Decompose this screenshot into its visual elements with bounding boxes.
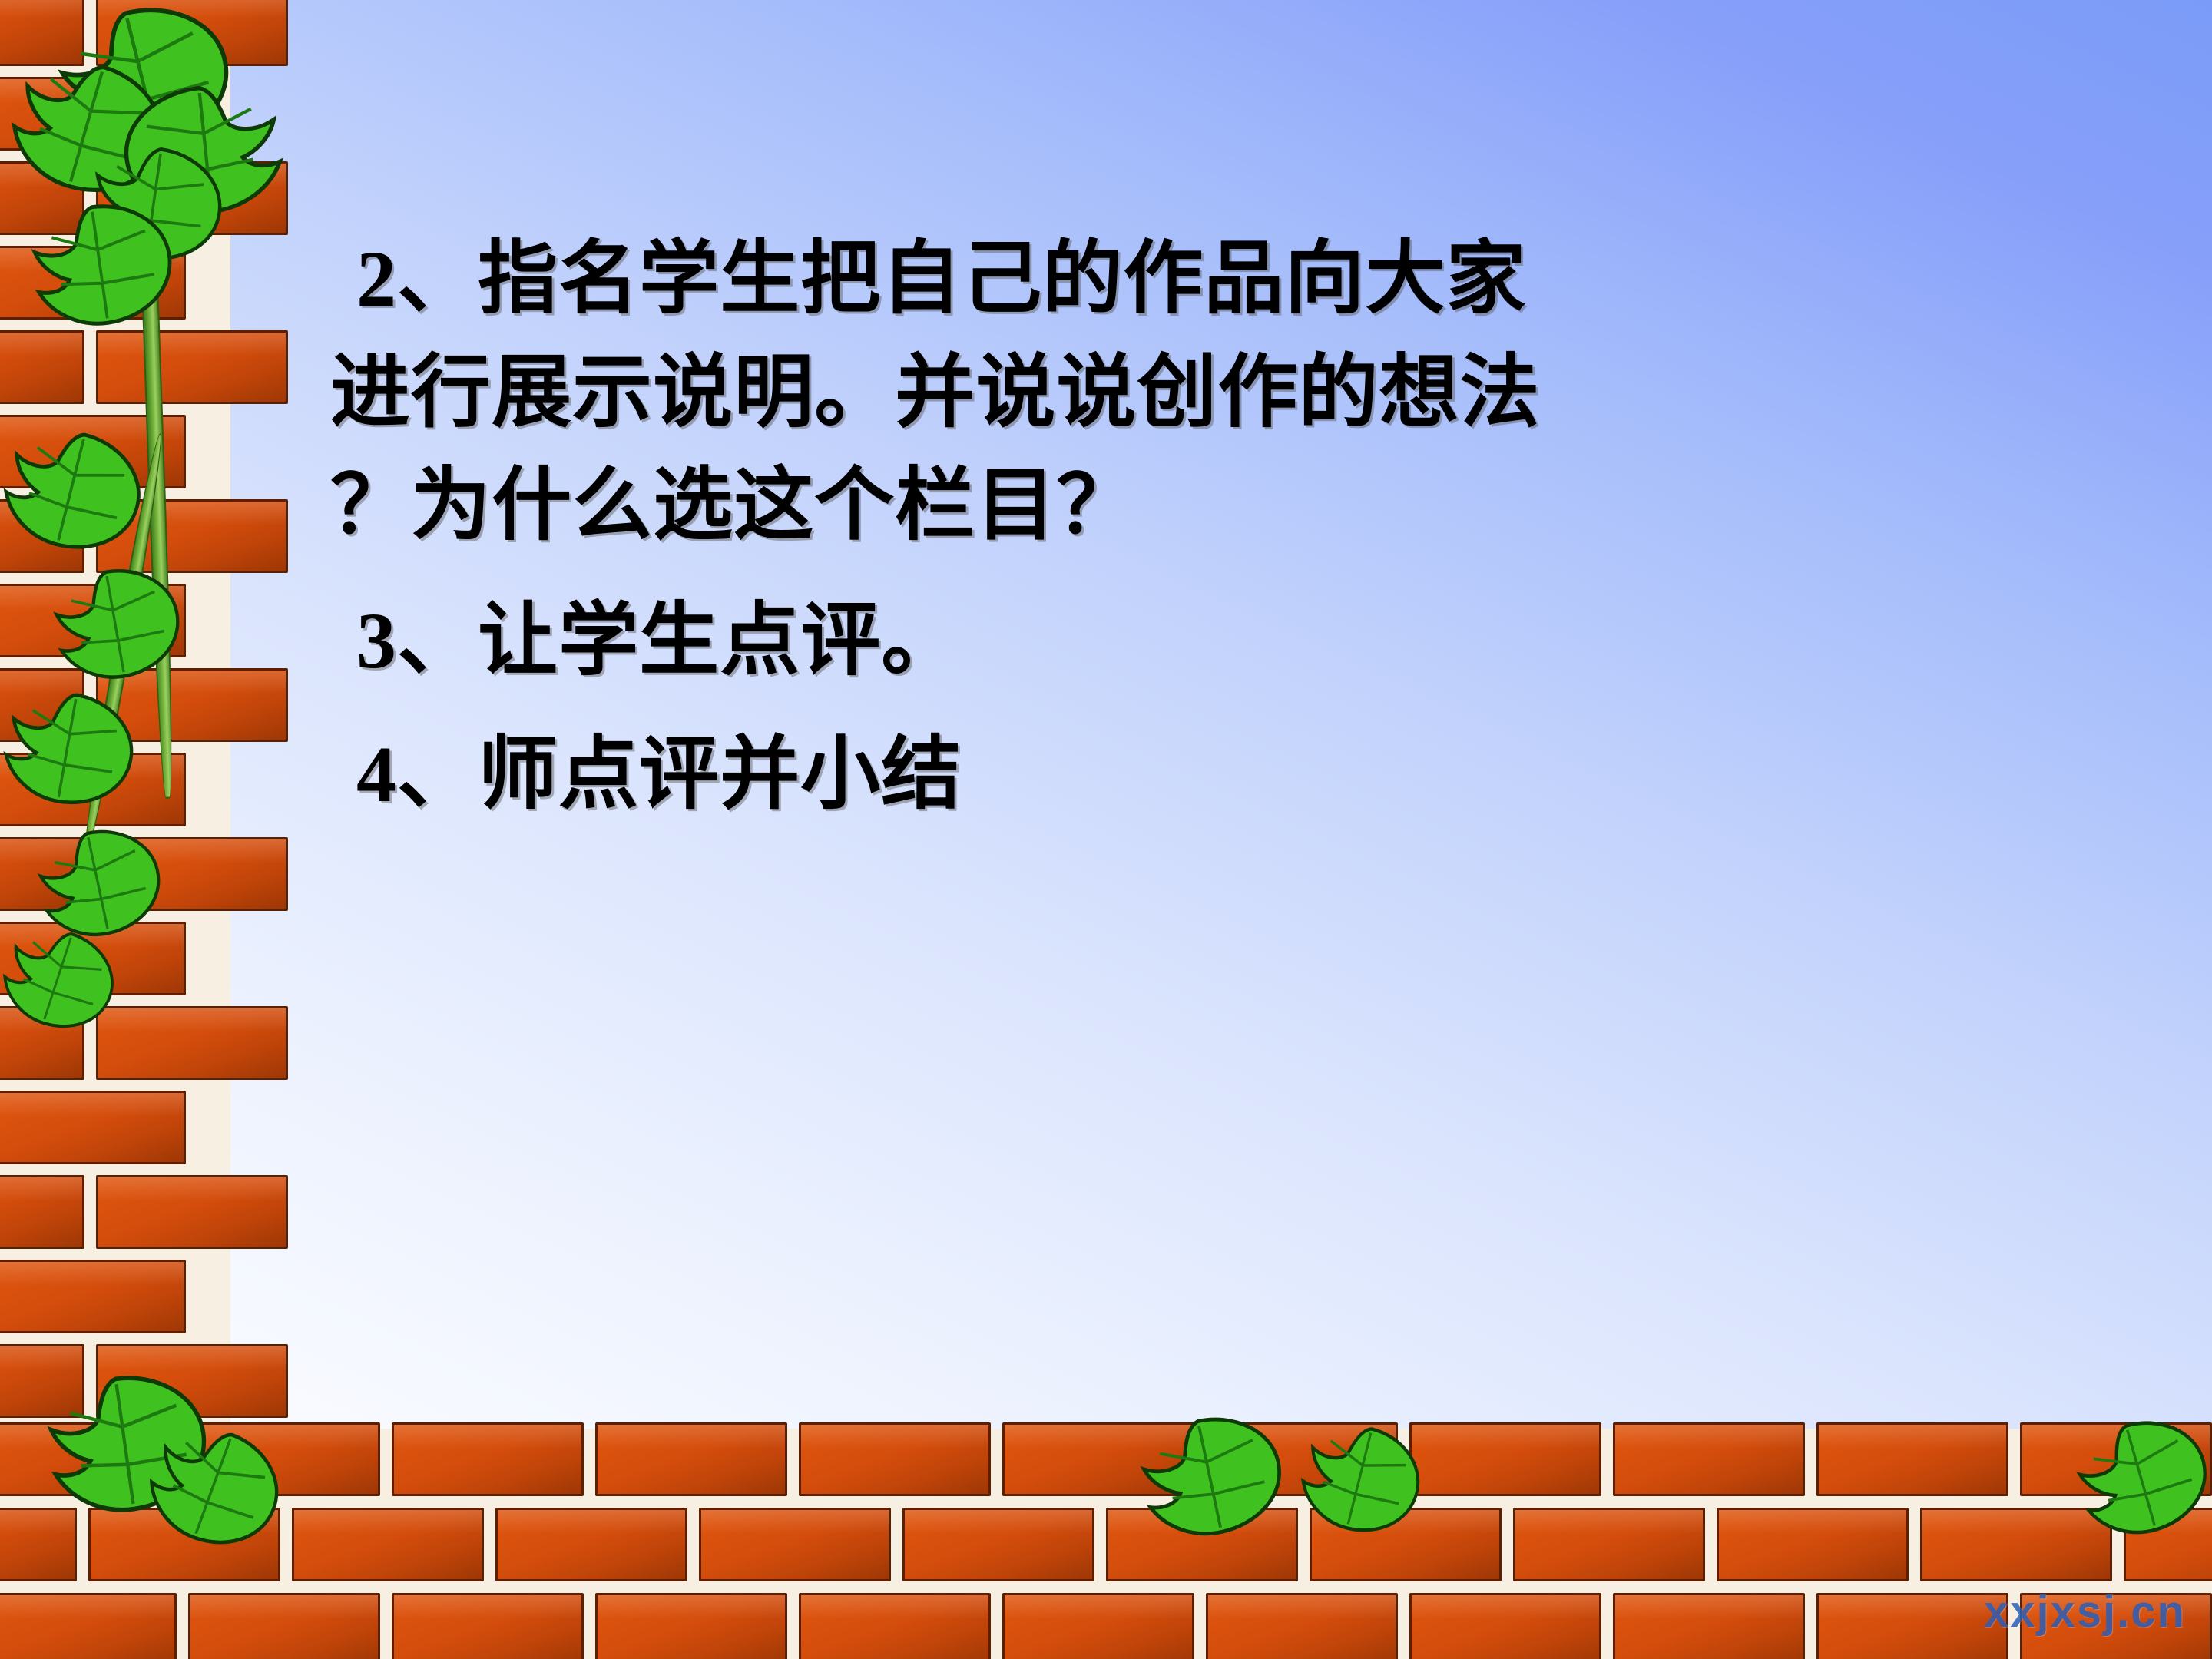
leaf-icon [41, 558, 190, 690]
brick [392, 1422, 584, 1496]
brick [1816, 1593, 2008, 1659]
leaf-icon [19, 194, 180, 336]
brick [799, 1593, 991, 1659]
brick [902, 1508, 1094, 1581]
brick [1613, 1593, 1805, 1659]
brick [96, 1006, 288, 1080]
brick [0, 1260, 186, 1333]
brick [699, 1508, 891, 1581]
text-line-3: ？为什么选这个栏目？ [330, 449, 2005, 563]
brick [0, 1091, 186, 1164]
brick [595, 1593, 787, 1659]
slide-canvas: 2、指名学生把自己的作品向大家 进行展示说明。并说说创作的想法 ？为什么选这个栏… [0, 0, 2212, 1659]
brick [1206, 1593, 1398, 1659]
brick [96, 330, 288, 404]
brick [1002, 1593, 1194, 1659]
brick [1513, 1508, 1705, 1581]
brick [495, 1508, 687, 1581]
brick [292, 1508, 484, 1581]
brick [392, 1593, 584, 1659]
text-line-5: 4、师点评并小结 [330, 718, 2005, 832]
brick [0, 1593, 177, 1659]
brick-wall-bottom [0, 1429, 2212, 1659]
slide-text-body: 2、指名学生把自己的作品向大家 进行展示说明。并说说创作的想法 ？为什么选这个栏… [330, 223, 2005, 831]
text-line-1: 2、指名学生把自己的作品向大家 [330, 223, 2005, 336]
brick [96, 1175, 288, 1249]
brick [1613, 1422, 1805, 1496]
brick [188, 1593, 380, 1659]
text-line-2: 进行展示说明。并说说创作的想法 [330, 336, 2005, 450]
brick [1816, 1422, 2008, 1496]
brick [1409, 1593, 1601, 1659]
brick [0, 1175, 84, 1249]
brick [595, 1422, 787, 1496]
site-watermark: xxjxsj.cn [1984, 1586, 2186, 1637]
brick [0, 330, 84, 404]
brick [799, 1422, 991, 1496]
text-line-4: 3、让学生点评。 [330, 584, 2005, 698]
leaf-icon [0, 680, 144, 816]
brick [1717, 1508, 1909, 1581]
brick [1409, 1422, 1601, 1496]
